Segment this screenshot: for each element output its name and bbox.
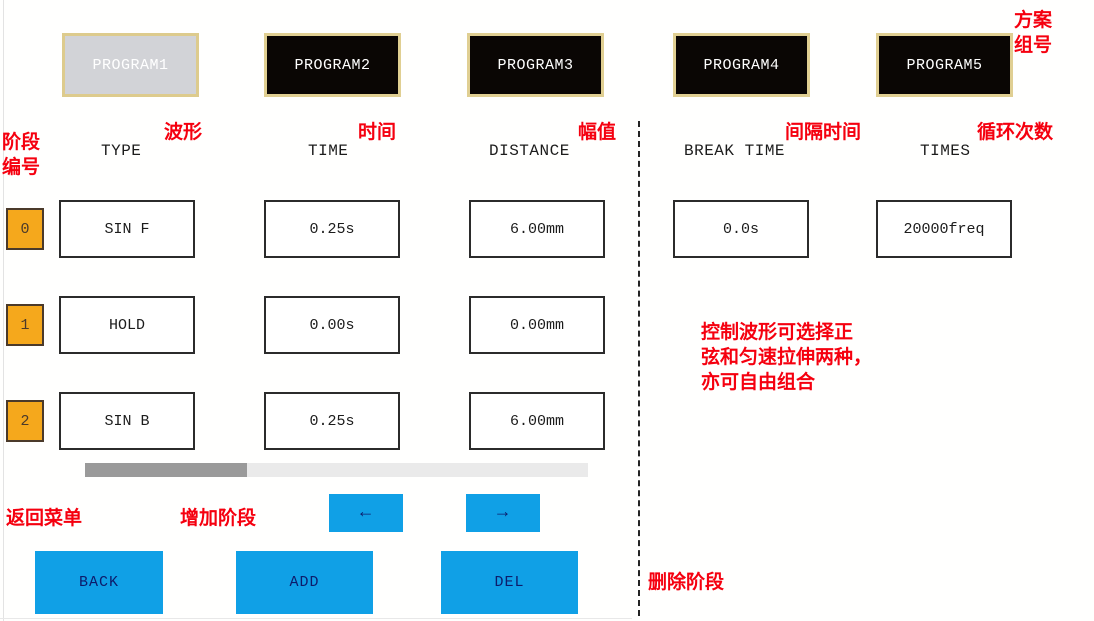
control-panel-screen: PROGRAM1 PROGRAM2 PROGRAM3 PROGRAM4 PROG… — [0, 0, 1094, 621]
stage-type-field-2[interactable]: SIN B — [59, 392, 195, 450]
add-button-label: ADD — [289, 574, 319, 591]
column-header-type: TYPE — [101, 142, 141, 160]
stage-time-value-1: 0.00s — [309, 317, 354, 334]
column-header-time: TIME — [308, 142, 348, 160]
annotation-cycle-count: 循环次数 — [977, 120, 1053, 145]
add-button[interactable]: ADD — [236, 551, 373, 614]
column-header-times: TIMES — [920, 142, 971, 160]
stage-index-badge-1-label: 1 — [20, 317, 29, 334]
annotation-stage-number: 阶段 编号 — [2, 130, 40, 180]
stage-time-value-0: 0.25s — [309, 221, 354, 238]
program-tab-5-label: PROGRAM5 — [906, 57, 982, 74]
stage-index-badge-0[interactable]: 0 — [6, 208, 44, 250]
stage-index-badge-1[interactable]: 1 — [6, 304, 44, 346]
arrow-right-icon: → — [497, 503, 509, 523]
stage-distance-field-2[interactable]: 6.00mm — [469, 392, 605, 450]
del-button-label: DEL — [494, 574, 524, 591]
break-time-field[interactable]: 0.0s — [673, 200, 809, 258]
program-tab-1-label: PROGRAM1 — [92, 57, 168, 74]
annotation-interval-time: 间隔时间 — [785, 120, 861, 145]
annotation-amplitude: 幅值 — [578, 120, 616, 145]
stage-time-field-2[interactable]: 0.25s — [264, 392, 400, 450]
program-tab-4[interactable]: PROGRAM4 — [673, 33, 810, 97]
panel-bottom-edge — [0, 618, 632, 619]
stage-list-scrollbar[interactable] — [85, 463, 588, 477]
stage-time-field-0[interactable]: 0.25s — [264, 200, 400, 258]
program-tab-3-label: PROGRAM3 — [497, 57, 573, 74]
next-page-button[interactable]: → — [466, 494, 540, 532]
prev-page-button[interactable]: ← — [329, 494, 403, 532]
stage-index-badge-2-label: 2 — [20, 413, 29, 430]
annotation-waveform: 波形 — [164, 120, 202, 145]
stage-distance-value-0: 6.00mm — [510, 221, 564, 238]
stage-index-badge-0-label: 0 — [20, 221, 29, 238]
times-field[interactable]: 20000freq — [876, 200, 1012, 258]
annotation-program-group: 方案 组号 — [1014, 8, 1052, 58]
break-time-value: 0.0s — [723, 221, 759, 238]
program-tab-2[interactable]: PROGRAM2 — [264, 33, 401, 97]
column-header-break-time: BREAK TIME — [684, 142, 785, 160]
annotation-back-menu: 返回菜单 — [6, 506, 82, 531]
panel-left-edge — [3, 0, 4, 621]
del-button[interactable]: DEL — [441, 551, 578, 614]
section-divider — [638, 121, 640, 616]
annotation-time: 时间 — [358, 120, 396, 145]
stage-type-value-0: SIN F — [104, 221, 149, 238]
stage-time-value-2: 0.25s — [309, 413, 354, 430]
program-tab-4-label: PROGRAM4 — [703, 57, 779, 74]
annotation-del-stage: 删除阶段 — [648, 570, 724, 595]
stage-index-badge-2[interactable]: 2 — [6, 400, 44, 442]
stage-type-field-1[interactable]: HOLD — [59, 296, 195, 354]
program-tab-3[interactable]: PROGRAM3 — [467, 33, 604, 97]
stage-distance-value-1: 0.00mm — [510, 317, 564, 334]
times-value: 20000freq — [903, 221, 984, 238]
stage-list-scrollbar-thumb[interactable] — [85, 463, 247, 477]
stage-type-field-0[interactable]: SIN F — [59, 200, 195, 258]
stage-type-value-2: SIN B — [104, 413, 149, 430]
back-button-label: BACK — [79, 574, 119, 591]
stage-time-field-1[interactable]: 0.00s — [264, 296, 400, 354]
stage-distance-field-0[interactable]: 6.00mm — [469, 200, 605, 258]
stage-distance-field-1[interactable]: 0.00mm — [469, 296, 605, 354]
annotation-waveform-note: 控制波形可选择正 弦和匀速拉伸两种， 亦可自由组合 — [701, 320, 872, 395]
stage-distance-value-2: 6.00mm — [510, 413, 564, 430]
stage-type-value-1: HOLD — [109, 317, 145, 334]
program-tab-5[interactable]: PROGRAM5 — [876, 33, 1013, 97]
arrow-left-icon: ← — [360, 503, 372, 523]
back-button[interactable]: BACK — [35, 551, 163, 614]
program-tab-1[interactable]: PROGRAM1 — [62, 33, 199, 97]
annotation-add-stage: 增加阶段 — [180, 506, 256, 531]
column-header-distance: DISTANCE — [489, 142, 570, 160]
program-tab-2-label: PROGRAM2 — [294, 57, 370, 74]
